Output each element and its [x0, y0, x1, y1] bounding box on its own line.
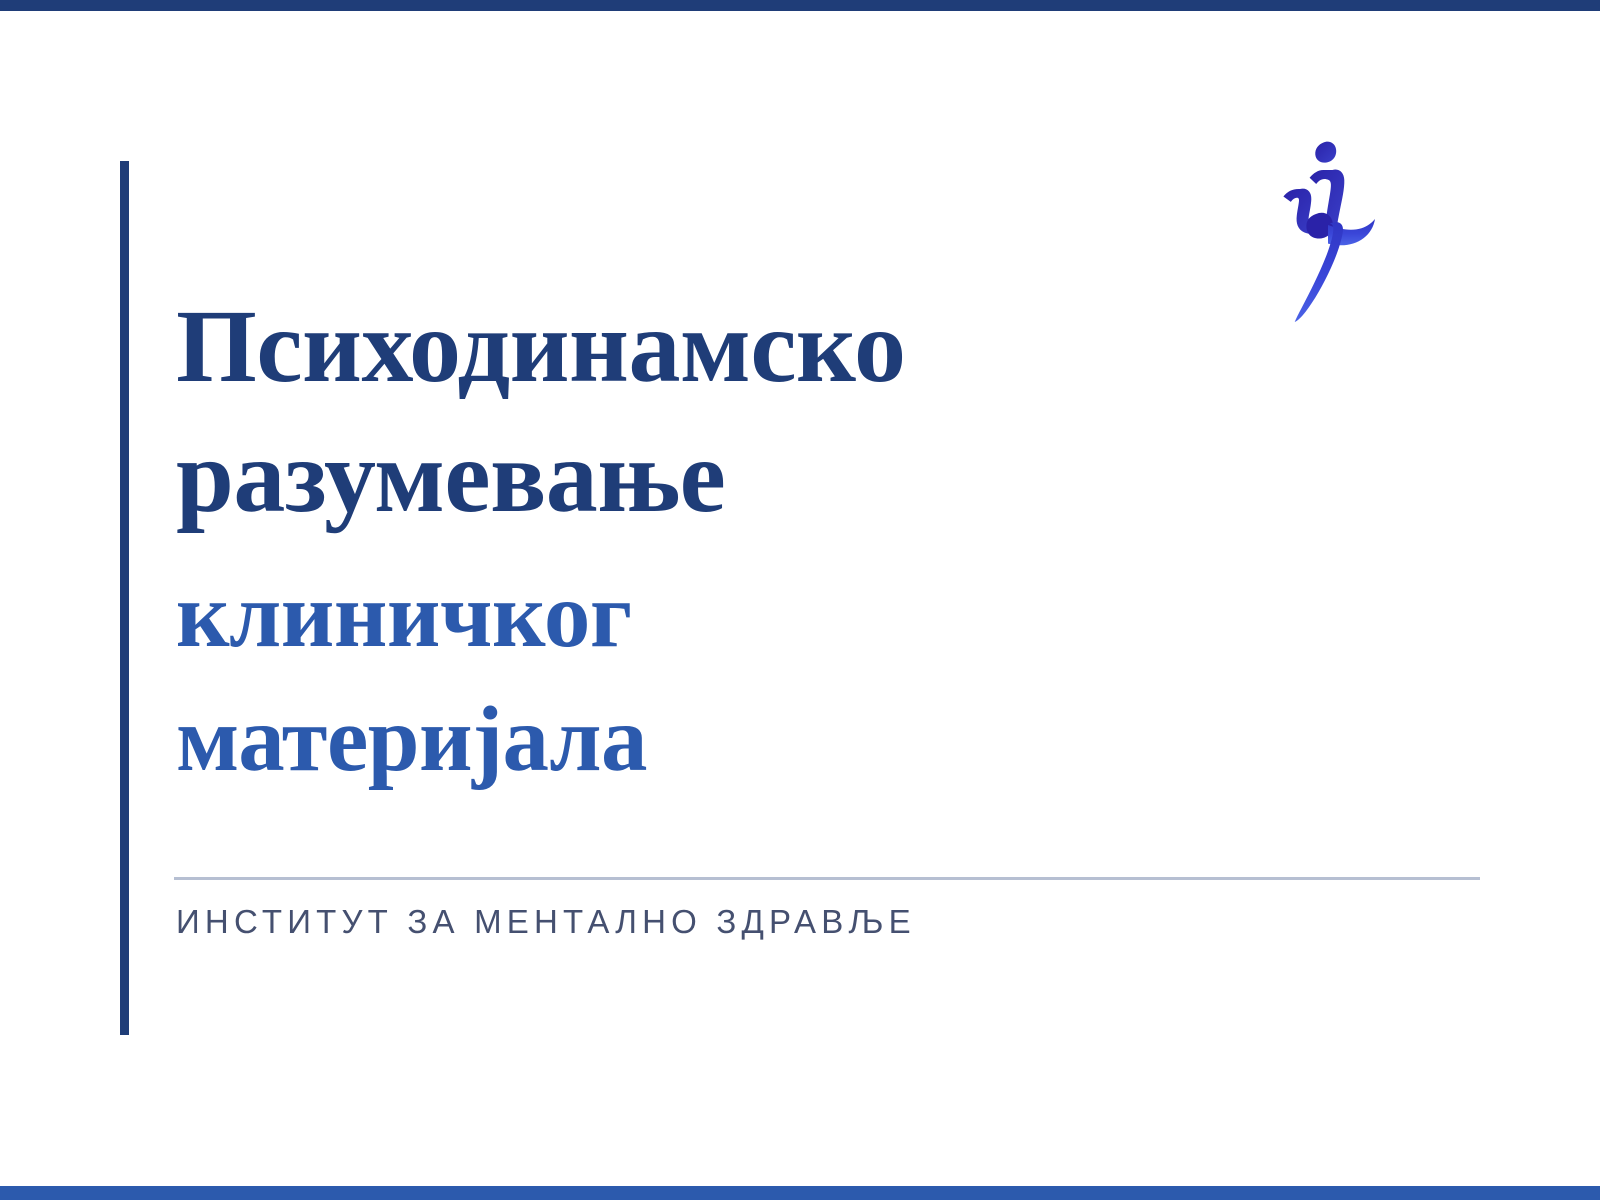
title-line-4: материјала [176, 694, 1236, 785]
title-line-1: Психодинамско [176, 296, 1236, 398]
title-slide: Психодинамско разумевање клиничког матер… [0, 0, 1600, 1200]
top-accent-bar [0, 0, 1600, 11]
left-vertical-rule [120, 161, 129, 1035]
logo-head-stroke [1315, 142, 1336, 163]
subtitle-organization: ИНСТИТУТ ЗА МЕНТАЛНО ЗДРАВЉЕ [176, 903, 916, 941]
title-subtitle-divider [174, 877, 1480, 880]
title-line-3: клиничког [176, 570, 1236, 661]
page-title: Психодинамско разумевање клиничког матер… [176, 296, 1236, 785]
title-line-2: разумевање [176, 426, 1236, 528]
brushstroke-human-figure-icon [1248, 126, 1398, 376]
bottom-accent-bar [0, 1186, 1600, 1200]
